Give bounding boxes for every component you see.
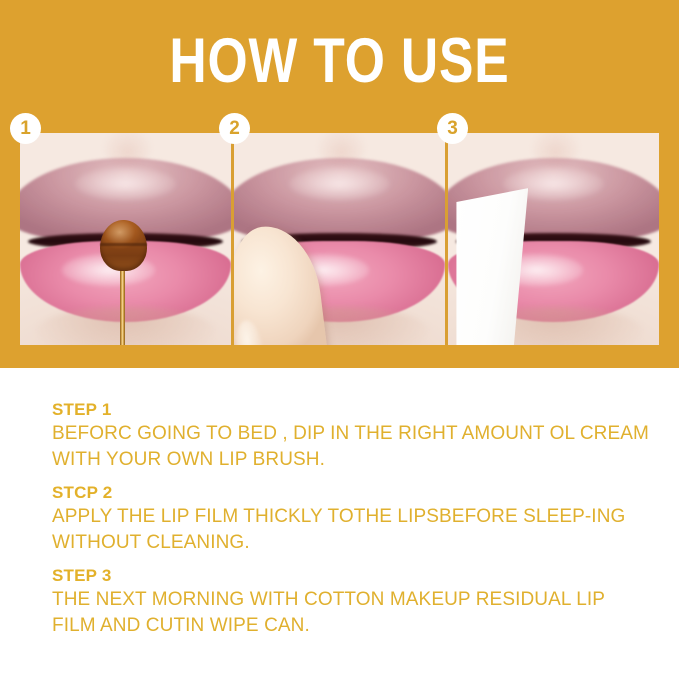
step-3-heading: STEP 3 [52,564,652,587]
photo-strip [20,133,659,345]
step-1-body: BEFORC GOING TO BED , DIP IN THE RIGHT A… [52,421,652,473]
step-badge-1: 1 [10,113,41,144]
chin-shadow [37,307,214,345]
lips-image-3 [448,133,659,345]
lips-image-1 [20,133,231,345]
step-2-body: APPLY THE LIP FILM THICKLY TOTHE LIPSBEF… [52,504,652,556]
page-title: HOW TO USE [61,27,618,95]
step-photo-2 [234,133,445,345]
step-badge-3: 3 [437,113,468,144]
step-1-heading: STEP 1 [52,398,652,421]
step-2-heading: STCP 2 [52,481,652,504]
applicator-wand-handle [120,264,125,345]
applicator-wand-band [100,243,146,246]
step-badge-2: 2 [219,113,250,144]
step-item-3: STEP 3 THE NEXT MORNING WITH COTTON MAKE… [52,564,652,639]
fingernail-highlight [234,319,265,345]
step-3-body: THE NEXT MORNING WITH COTTON MAKEUP RESI… [52,587,652,639]
step-item-1: STEP 1 BEFORC GOING TO BED , DIP IN THE … [52,398,652,473]
steps-list: STEP 1 BEFORC GOING TO BED , DIP IN THE … [52,398,652,647]
step-photo-1 [20,133,231,345]
upper-lip-sheen [289,167,390,201]
lips-image-2 [234,133,445,345]
upper-lip-sheen [75,167,176,201]
step-item-2: STCP 2 APPLY THE LIP FILM THICKLY TOTHE … [52,481,652,556]
step-photo-3 [448,133,659,345]
how-to-use-infographic: HOW TO USE [0,0,679,679]
